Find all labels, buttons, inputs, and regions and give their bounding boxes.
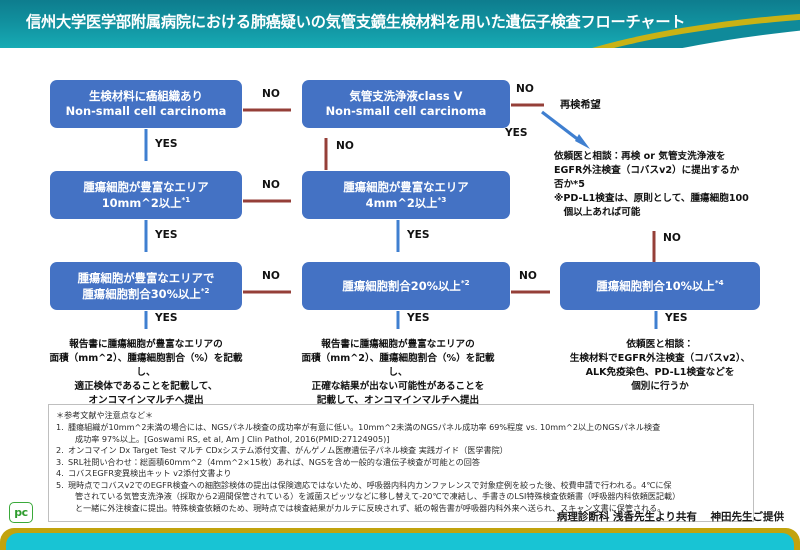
- arrow-no-b7-to-consult: [648, 222, 660, 263]
- box-b4-line2-text: 4mm^2以上: [366, 195, 438, 209]
- footer-cyan-bar: [6, 533, 794, 550]
- arrow-label-no-b7-consult: NO: [663, 232, 681, 244]
- box-b4-line1: 腫瘍細胞が豊富なエリア: [343, 180, 468, 195]
- output-left-line-1: 報告書に腫瘍細胞が豊富なエリアの: [42, 338, 250, 352]
- box-b4-line2: 4mm^2以上*3: [343, 195, 468, 210]
- box-b1-line2: Non-small cell carcinoma: [66, 104, 227, 119]
- arrow-label-yes-b2-consult: YES: [505, 127, 528, 139]
- reference-number: 1.: [56, 422, 68, 445]
- consult-top-line-3: 否か*5: [554, 178, 798, 192]
- arrow-no-b4-to-b2: [320, 129, 332, 171]
- box-b1-line1: 生検材料に癌組織あり: [66, 89, 227, 104]
- box-b2-line1: 気管支洗浄液class V: [326, 89, 487, 104]
- output-right-line-4: 個別に行うか: [546, 380, 774, 394]
- slide-canvas: 信州大学医学部附属病院における肺癌疑いの気管支鏡生検材料を用いた遺伝子検査フロー…: [0, 0, 800, 550]
- box-area-4mm2[interactable]: 腫瘍細胞が豊富なエリア 4mm^2以上*3: [302, 171, 510, 219]
- reference-line: 腫瘍組織が10mm^2未満の場合には、NGSパネル検査の成功率が有意に低い。10…: [68, 422, 660, 432]
- output-left-line-2: 面積（mm^2）、腫瘍細胞割合（%）を記載し、: [42, 352, 250, 380]
- credit-secondary: 神田先生ご提供: [711, 511, 785, 523]
- arrow-yes-b3-to-b5: [140, 220, 152, 262]
- reference-text: オンコマイン Dx Target Test マルチ CDxシステム添付文書、がん…: [68, 445, 746, 456]
- output-right-line-3: ALK免疫染色、PD-L1検査などを: [546, 366, 774, 380]
- box-ratio-20pct[interactable]: 腫瘍細胞割合20%以上*2: [302, 262, 510, 310]
- reference-number: 5.: [56, 480, 68, 514]
- arrow-yes-b6-to-output-mid: [392, 311, 404, 339]
- consult-top-line-1: 依頼医と相談：再検 or 気管支洗浄液を: [554, 150, 798, 164]
- box-b2-line2: Non-small cell carcinoma: [326, 104, 487, 119]
- box-ratio-30pct[interactable]: 腫瘍細胞が豊富なエリアで 腫瘍細胞割合30%以上*2: [50, 262, 242, 310]
- output-left-line-3: 適正検体であることを記載して、: [42, 380, 250, 394]
- box-b6-line1: 腫瘍細胞割合20%以上*2: [342, 278, 469, 293]
- reference-text: SRL社問い合わせ：総面積60mm^2（4mm^2×15枚）あれば、NGSを含め…: [68, 457, 746, 468]
- box-lavage-class-v[interactable]: 気管支洗浄液class V Non-small cell carcinoma: [302, 80, 510, 128]
- box-ratio-10pct[interactable]: 腫瘍細胞割合10%以上*4: [560, 262, 760, 310]
- reference-line: 現時点でコバスv2でのEGFR検査への細胞診検体の提出は保険適応ではないため、呼…: [68, 480, 672, 490]
- arrow-label-yes-b5-output: YES: [155, 312, 178, 324]
- box-b3-line1: 腫瘍細胞が豊富なエリア: [83, 180, 208, 195]
- arrow-label-no-b3-b4: NO: [262, 179, 280, 191]
- box-b6-sup: *2: [461, 278, 470, 287]
- box-b5-line2-text: 腫瘍細胞割合30%以上: [82, 286, 200, 300]
- box-b3-sup: *1: [182, 195, 191, 204]
- references-panel: ＊参考文献や注意点など＊ 1. 腫瘍組織が10mm^2未満の場合には、NGSパネ…: [48, 404, 754, 522]
- box-b5-line1: 腫瘍細胞が豊富なエリアで: [78, 271, 215, 286]
- arrow-yes-b4-to-b6: [392, 220, 404, 262]
- box-b7-line1-text: 腫瘍細胞割合10%以上: [596, 279, 714, 293]
- reference-number: 3.: [56, 457, 68, 468]
- arrow-yes-b7-to-output-right: [650, 311, 662, 339]
- reference-line: 成功率 97%以上。[Goswami RS, et al, Am J Clin …: [68, 434, 746, 445]
- reference-text: 腫瘍組織が10mm^2未満の場合には、NGSパネル検査の成功率が有意に低い。10…: [68, 422, 746, 445]
- consult-top-line-5: 個以上あれば可能: [554, 206, 798, 220]
- arrow-yes-b2-to-consult: [538, 108, 594, 154]
- arrow-no-b5-to-b6: [243, 286, 301, 298]
- credit-line: 病理診断科 浅香先生より共有 神田先生ご提供: [557, 509, 784, 524]
- text-consult-top: 依頼医と相談：再検 or 気管支洗浄液を EGFR外注検査（コバスv2）に提出す…: [554, 150, 798, 220]
- arrow-label-no-b6-b7: NO: [519, 270, 537, 282]
- arrow-label-no-b5-b6: NO: [262, 270, 280, 282]
- box-b7-sup: *4: [715, 278, 724, 287]
- box-biopsy-cancer-tissue[interactable]: 生検材料に癌組織あり Non-small cell carcinoma: [50, 80, 242, 128]
- arrow-yes-b5-to-output-left: [140, 311, 152, 339]
- box-b7-line1: 腫瘍細胞割合10%以上*4: [596, 278, 723, 293]
- box-b4-sup: *3: [438, 195, 447, 204]
- reference-number: 4.: [56, 468, 68, 479]
- box-area-10mm2[interactable]: 腫瘍細胞が豊富なエリア 10mm^2以上*1: [50, 171, 242, 219]
- box-b6-line1-text: 腫瘍細胞割合20%以上: [342, 279, 460, 293]
- reference-item: 4. コバスEGFR変異検出キット v2添付文書より: [56, 468, 746, 479]
- reference-line: SRL社問い合わせ：総面積60mm^2（4mm^2×15枚）あれば、NGSを含め…: [68, 457, 480, 467]
- credit-primary: 病理診断科 浅香先生より共有: [557, 511, 697, 523]
- reference-item: 3. SRL社問い合わせ：総面積60mm^2（4mm^2×15枚）あれば、NGS…: [56, 457, 746, 468]
- pc-logo-icon: pc: [9, 502, 33, 523]
- page-title: 信州大学医学部附属病院における肺癌疑いの気管支鏡生検材料を用いた遺伝子検査フロー…: [26, 10, 774, 32]
- arrow-yes-b1-to-b3: [140, 129, 152, 171]
- box-b5-line2: 腫瘍細胞割合30%以上*2: [78, 286, 215, 301]
- output-right-line-1: 依頼医と相談：: [546, 338, 774, 352]
- reference-item: 1. 腫瘍組織が10mm^2未満の場合には、NGSパネル検査の成功率が有意に低い…: [56, 422, 746, 445]
- box-b5-sup: *2: [201, 286, 210, 295]
- reference-line: オンコマイン Dx Target Test マルチ CDxシステム添付文書、がん…: [68, 445, 508, 455]
- consult-top-line-4: ※PD-L1検査は、原則として、腫瘍細胞100: [554, 192, 798, 206]
- reference-number: 2.: [56, 445, 68, 456]
- box-b3-line2-text: 10mm^2以上: [102, 195, 182, 209]
- output-right-line-2: 生検材料でEGFR外注検査（コバスv2）、: [546, 352, 774, 366]
- arrow-label-no-b1-b2: NO: [262, 88, 280, 100]
- arrow-label-yes-b4-b6: YES: [407, 229, 430, 241]
- box-b3-line2: 10mm^2以上*1: [83, 195, 208, 210]
- arrow-no-b3-to-b4: [243, 195, 301, 207]
- output-mid-line-1: 報告書に腫瘍細胞が豊富なエリアの: [294, 338, 502, 352]
- reference-item: 2. オンコマイン Dx Target Test マルチ CDxシステム添付文書…: [56, 445, 746, 456]
- arrow-label-no-b2-recheck: NO: [516, 83, 534, 95]
- arrow-label-yes-b3-b5: YES: [155, 229, 178, 241]
- output-mid-line-3: 正確な結果が出ない可能性があることを: [294, 380, 502, 394]
- arrow-label-yes-b6-output: YES: [407, 312, 430, 324]
- output-mid-line-2: 面積（mm^2）、腫瘍細胞割合（%）を記載し、: [294, 352, 502, 380]
- arrow-label-no-b4-b2: NO: [336, 140, 354, 152]
- reference-line: 管されている気管支洗浄液（採取から2週間保管されている）を滅菌スピッツなどに移し…: [68, 491, 746, 502]
- references-title: ＊参考文献や注意点など＊: [56, 410, 746, 421]
- reference-text: コバスEGFR変異検出キット v2添付文書より: [68, 468, 746, 479]
- arrow-no-b1-to-b2: [243, 104, 301, 116]
- reference-line: コバスEGFR変異検出キット v2添付文書より: [68, 468, 232, 478]
- arrow-no-b6-to-b7: [511, 286, 561, 298]
- arrow-label-yes-b1-b3: YES: [155, 138, 178, 150]
- consult-top-line-2: EGFR外注検査（コバスv2）に提出するか: [554, 164, 798, 178]
- text-output-right: 依頼医と相談： 生検材料でEGFR外注検査（コバスv2）、 ALK免疫染色、PD…: [546, 338, 774, 394]
- arrow-label-yes-b7-output: YES: [665, 312, 688, 324]
